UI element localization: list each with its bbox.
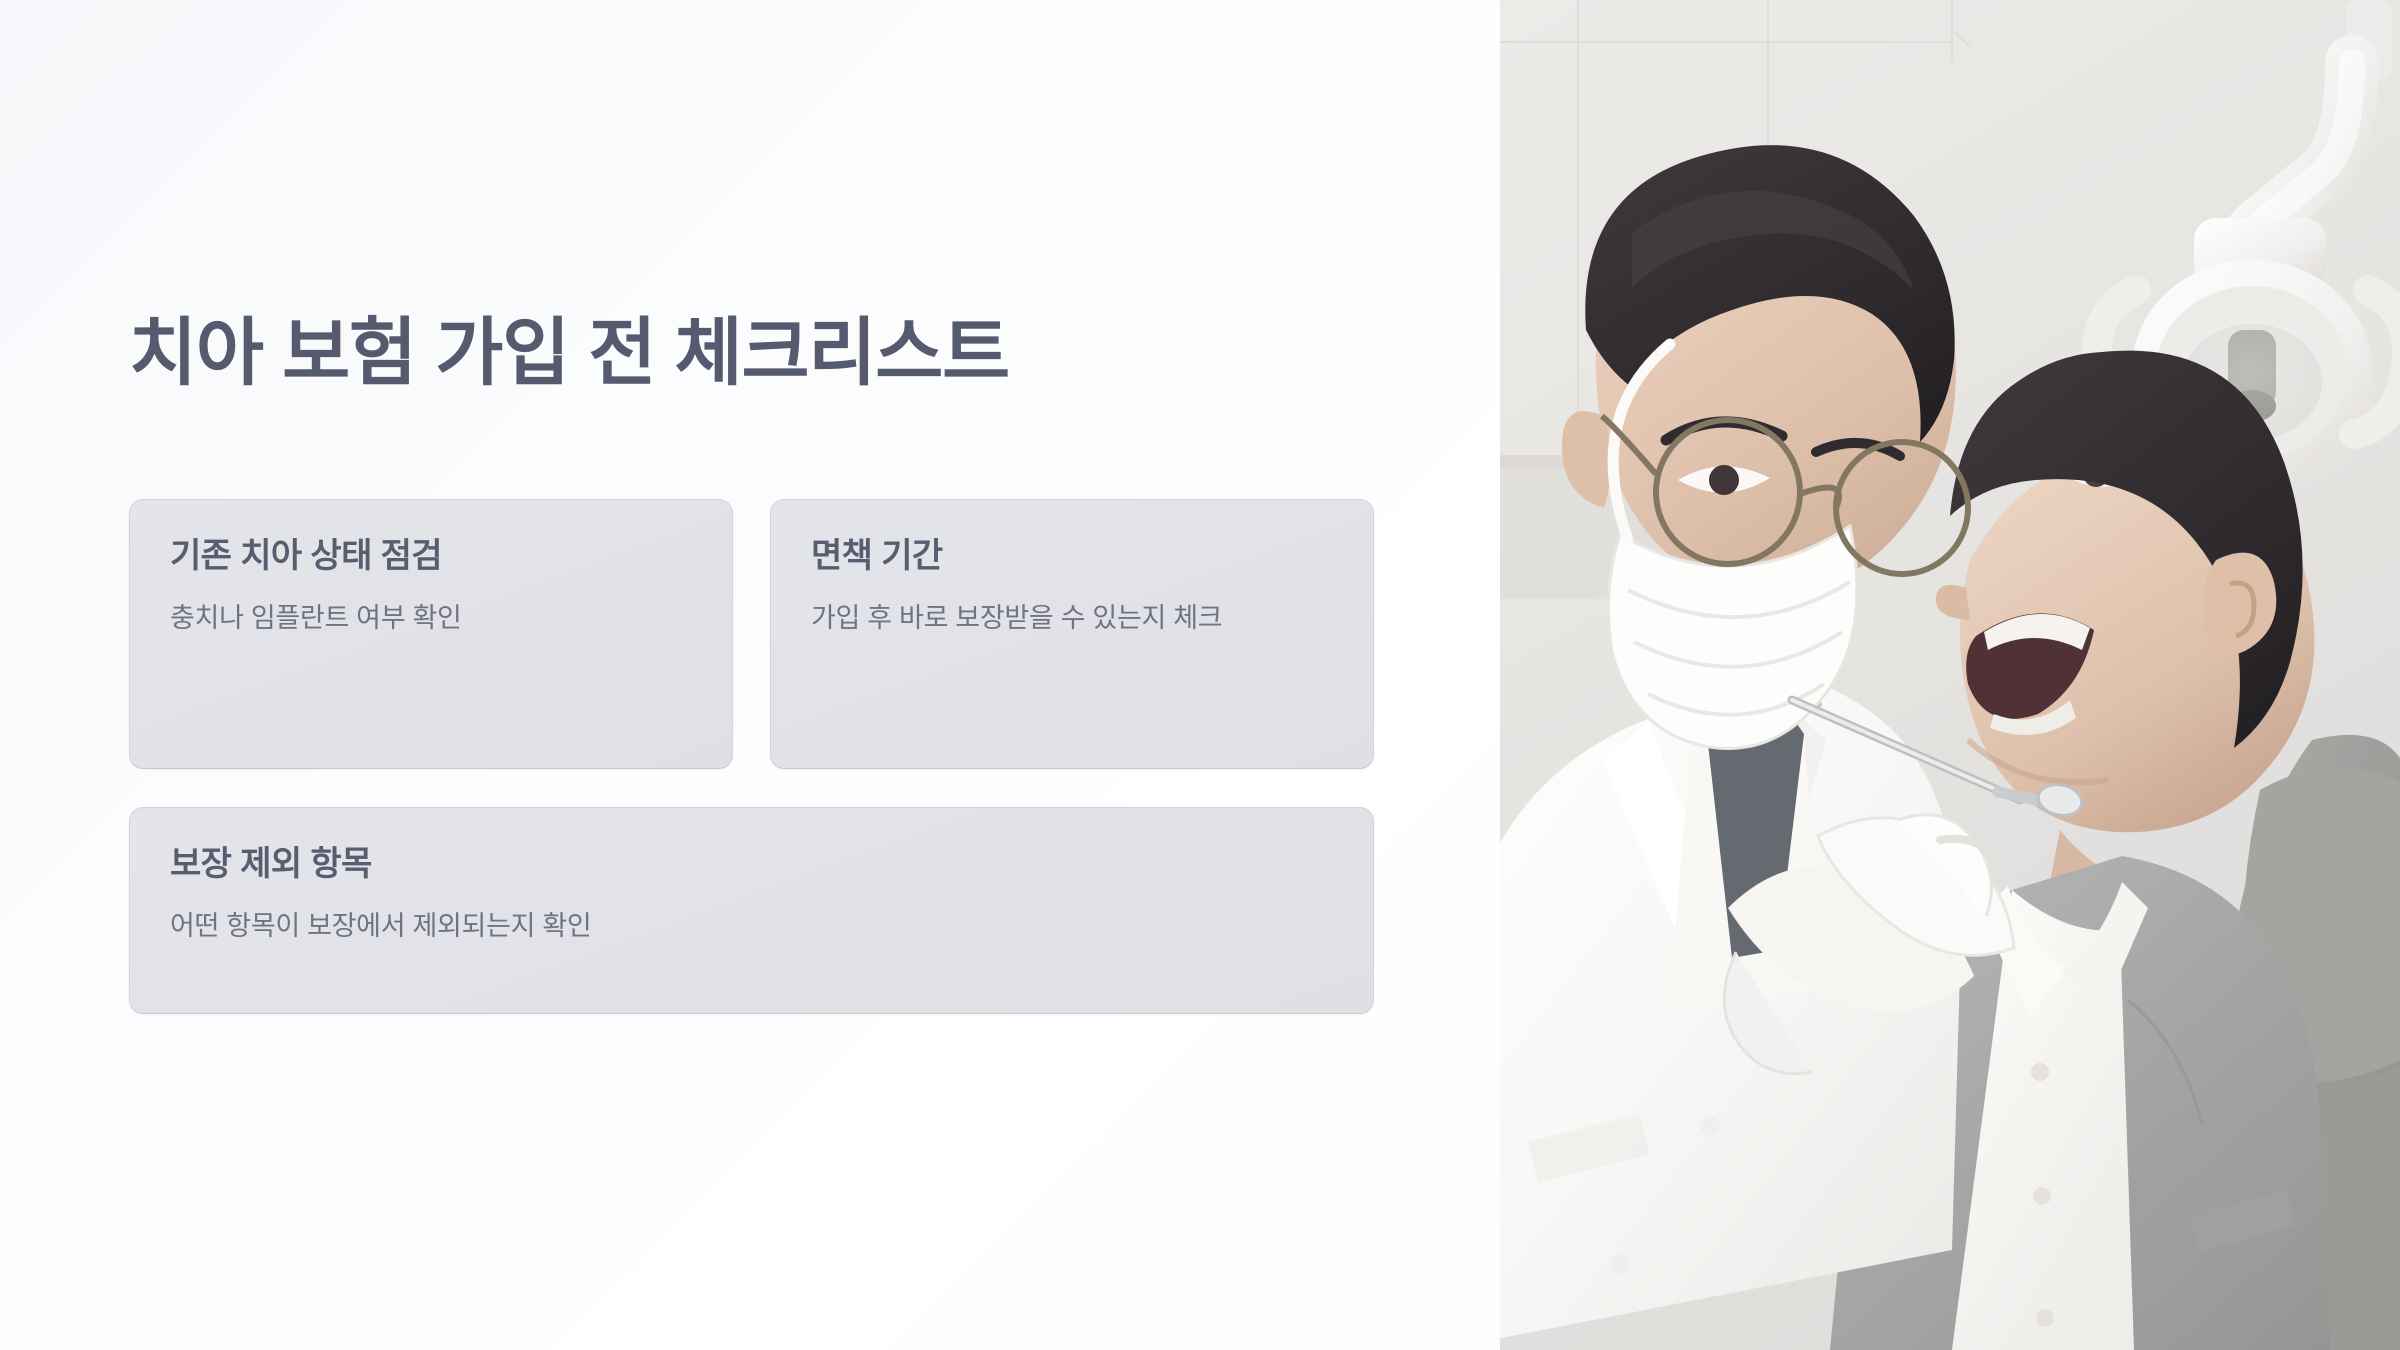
dental-clinic-photo xyxy=(1500,0,2400,1350)
checklist-card[interactable]: 면책 기간 가입 후 바로 보장받을 수 있는지 체크 xyxy=(770,499,1374,769)
content-inner: 치아 보험 가입 전 체크리스트 기존 치아 상태 점검 충치나 임플란트 여부… xyxy=(129,0,1374,1350)
dental-clinic-illustration xyxy=(1500,0,2400,1350)
checklist-card-title: 보장 제외 항목 xyxy=(170,844,1333,885)
slide-root: 치아 보험 가입 전 체크리스트 기존 치아 상태 점검 충치나 임플란트 여부… xyxy=(0,0,2400,1350)
checklist-card[interactable]: 보장 제외 항목 어떤 항목이 보장에서 제외되는지 확인 xyxy=(129,807,1374,1014)
checklist-card-title: 면책 기간 xyxy=(811,536,1333,577)
checklist-card-description: 어떤 항목이 보장에서 제외되는지 확인 xyxy=(170,905,1333,949)
checklist-card-grid: 기존 치아 상태 점검 충치나 임플란트 여부 확인 면책 기간 가입 후 바로… xyxy=(129,499,1374,1014)
checklist-card-title: 기존 치아 상태 점검 xyxy=(170,536,692,577)
page-title: 치아 보험 가입 전 체크리스트 xyxy=(129,312,1009,395)
checklist-card-description: 충치나 임플란트 여부 확인 xyxy=(170,597,692,641)
checklist-card[interactable]: 기존 치아 상태 점검 충치나 임플란트 여부 확인 xyxy=(129,499,733,769)
checklist-card-description: 가입 후 바로 보장받을 수 있는지 체크 xyxy=(811,597,1333,641)
content-panel: 치아 보험 가입 전 체크리스트 기존 치아 상태 점검 충치나 임플란트 여부… xyxy=(0,0,1500,1350)
